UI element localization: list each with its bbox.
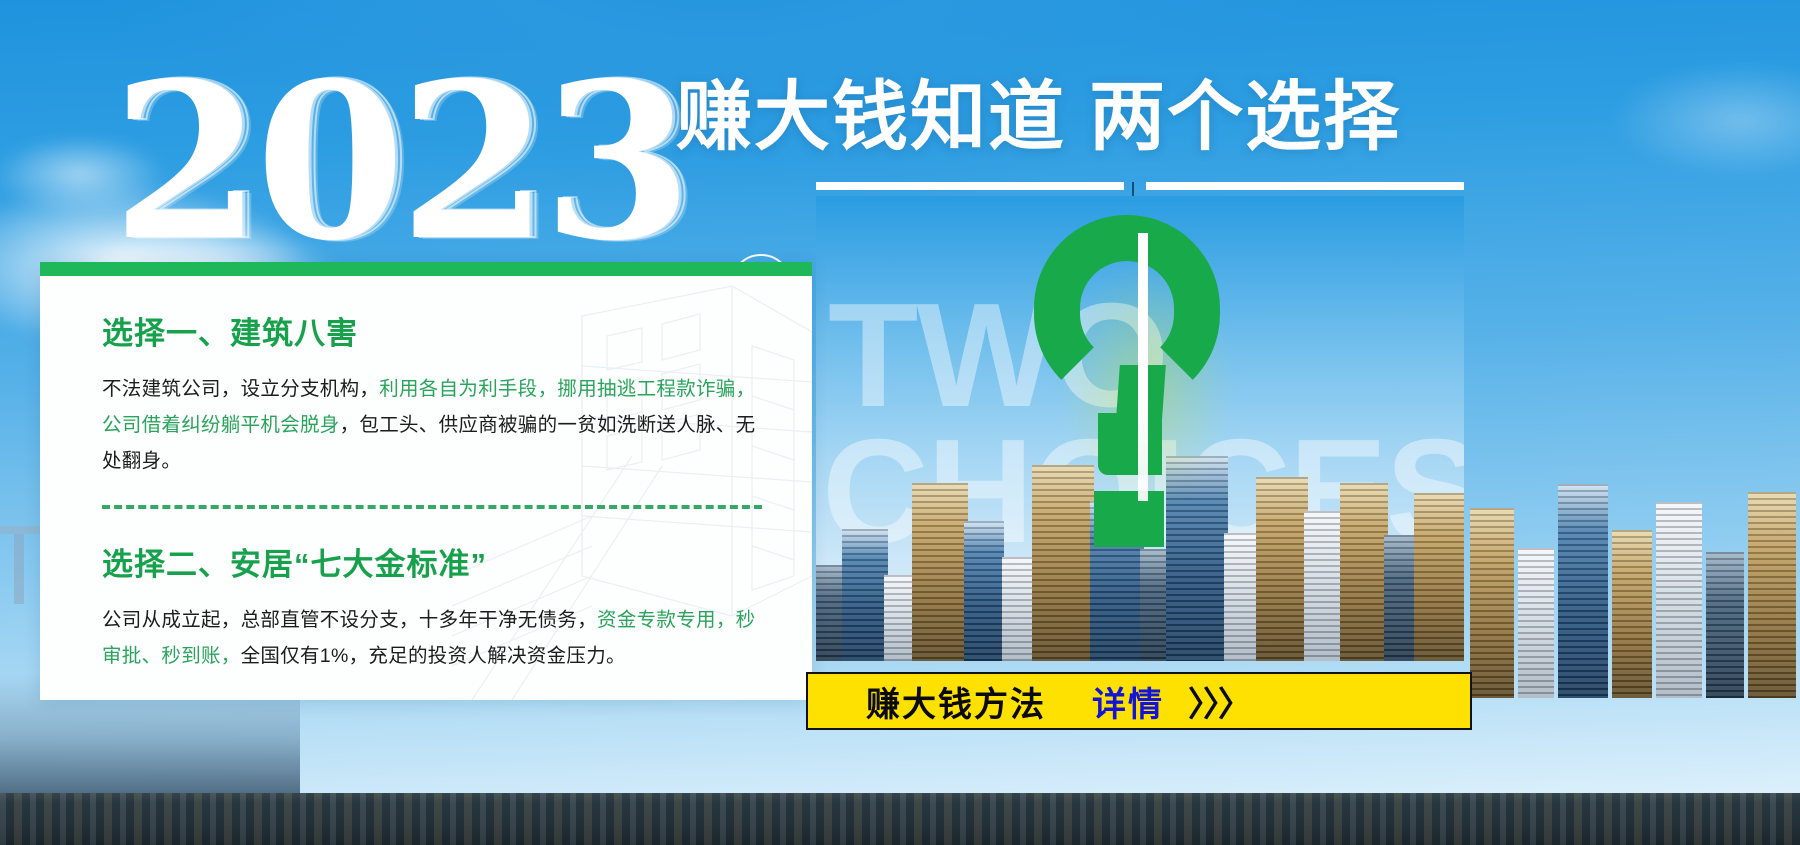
- city-skyline: [816, 449, 1464, 661]
- year-outline: 2023: [118, 62, 692, 262]
- cta-main-label: 赚大钱方法: [866, 677, 1046, 726]
- section-divider: [102, 505, 762, 509]
- card-content: 选择一、建筑八害 不法建筑公司，设立分支机构，利用各自为利手段，挪用抽逃工程款诈…: [102, 308, 762, 674]
- section-2-title: 选择二、安居“七大金标准”: [102, 539, 762, 584]
- year-graphic: 2023 2023 年: [112, 62, 752, 272]
- section-1-body: 不法建筑公司，设立分支机构，利用各自为利手段，挪用抽逃工程款诈骗，公司借着纠纷躺…: [102, 371, 762, 479]
- headline-rule: [816, 182, 1464, 196]
- content-card: 选择一、建筑八害 不法建筑公司，设立分支机构，利用各自为利手段，挪用抽逃工程款诈…: [40, 262, 812, 700]
- section-2-body-part-1: 公司从成立起，总部直管不设分支，十多年干净无债务，: [102, 609, 597, 631]
- poster-root: 2023 2023 年 赚大钱知道 两个选择 TWO CHOICES: [0, 0, 1800, 845]
- chevron-right-icon: 〉〉〉: [1188, 677, 1250, 726]
- card-accent-bar: [40, 262, 812, 276]
- section-2-body-part-3: 全国仅有1%，充足的投资人解决资金压力。: [241, 645, 626, 667]
- page-title: 赚大钱知道 两个选择: [676, 78, 1401, 158]
- bottom-reflection-strip: [0, 793, 1800, 845]
- watermark-two: TWO: [828, 282, 1167, 430]
- cta-details-link[interactable]: 详情: [1092, 677, 1164, 726]
- section-2-body: 公司从成立起，总部直管不设分支，十多年干净无债务，资金专款专用，秒审批、秒到账，…: [102, 602, 762, 674]
- section-1-body-part-1: 不法建筑公司，设立分支机构，: [102, 378, 379, 400]
- photo-panel: TWO CHOICES: [816, 196, 1464, 661]
- cta-banner[interactable]: 赚大钱方法 详情 〉〉〉: [806, 672, 1472, 730]
- section-1-title: 选择一、建筑八害: [102, 308, 762, 353]
- right-edge-skyline: [1464, 430, 1800, 698]
